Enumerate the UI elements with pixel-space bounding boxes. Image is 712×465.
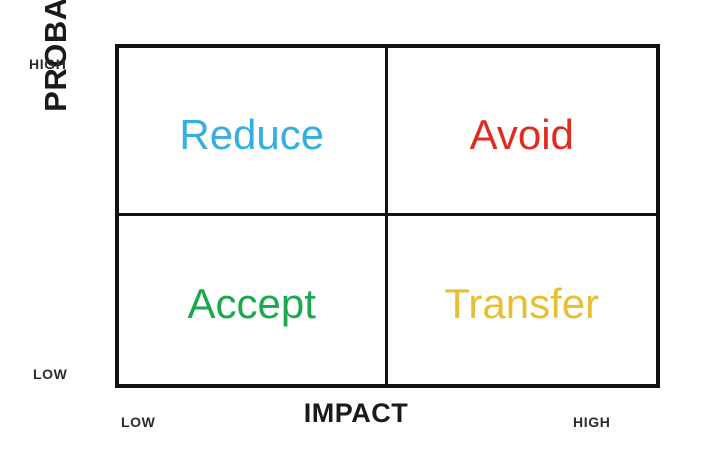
quadrant-label-avoid: Avoid [470, 114, 574, 156]
quadrant-low-probability-high-impact[interactable]: Transfer [388, 216, 657, 384]
quadrant-low-probability-low-impact[interactable]: Accept [119, 216, 388, 384]
risk-matrix-diagram: PROBABILITY HIGH LOW Reduce Avoid Accept… [0, 0, 712, 465]
quadrant-label-accept: Accept [188, 283, 316, 325]
matrix-grid: Reduce Avoid Accept Transfer [115, 44, 660, 388]
y-axis-tick-low: LOW [33, 366, 67, 382]
quadrant-label-reduce: Reduce [179, 114, 324, 156]
y-axis-tick-high: HIGH [29, 56, 66, 72]
x-axis-tick-high: HIGH [573, 414, 610, 430]
quadrant-label-transfer: Transfer [444, 283, 599, 325]
x-axis-tick-low: LOW [121, 414, 155, 430]
quadrant-high-probability-high-impact[interactable]: Avoid [388, 48, 657, 216]
quadrant-high-probability-low-impact[interactable]: Reduce [119, 48, 388, 216]
